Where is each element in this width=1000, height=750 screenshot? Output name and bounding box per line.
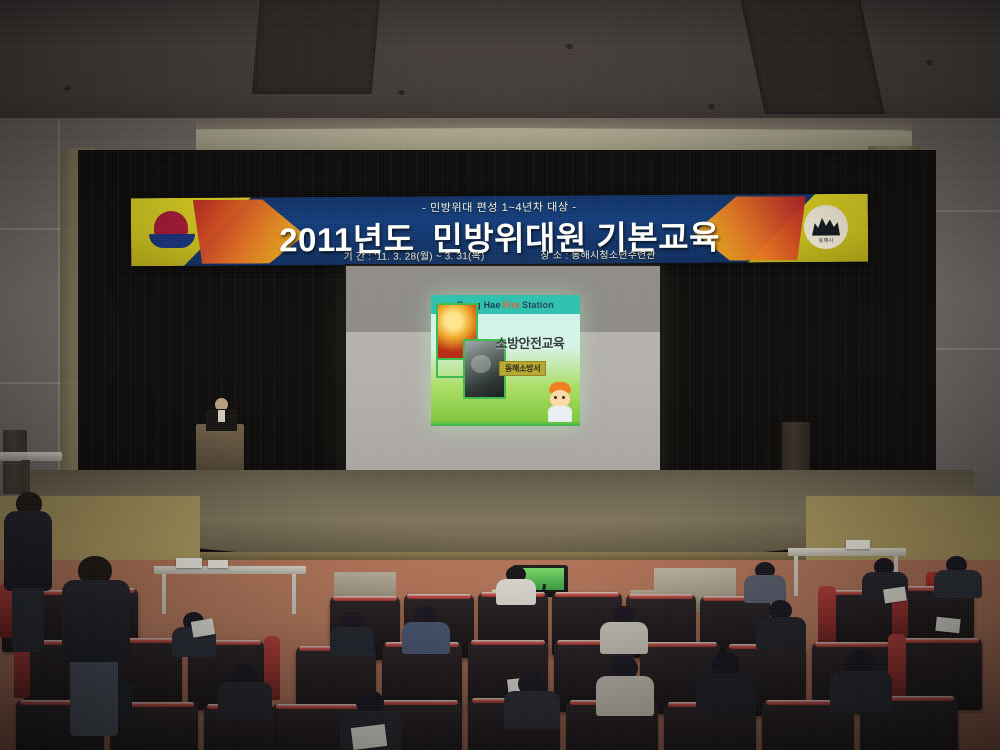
banner-period-label: 기 간 : — [343, 252, 371, 263]
standing-legs — [70, 662, 118, 736]
audience-member — [830, 650, 892, 708]
event-banner: 동해시 - 민방위대 편성 1~4년차 대상 - 2011년도민방위대원 기본교… — [131, 194, 868, 267]
presenter-shirt — [218, 410, 225, 422]
audience-member — [934, 556, 982, 594]
audience-body — [496, 579, 536, 605]
audience-body — [218, 682, 272, 718]
audience-body — [696, 673, 756, 715]
banner-venue-value: 동해시청소년수련관 — [571, 250, 656, 262]
audience-member — [330, 612, 374, 652]
mascot-eye — [554, 396, 557, 399]
paper-on-table — [846, 540, 870, 549]
ceiling-fixture — [926, 60, 933, 65]
audience-body — [934, 570, 982, 598]
slide-header-station: Station — [522, 300, 554, 310]
handout-paper — [351, 724, 387, 750]
slide-header-fire: Fire — [503, 300, 520, 310]
auditorium-scene: 동해시 - 민방위대 편성 1~4년차 대상 - 2011년도민방위대원 기본교… — [0, 0, 1000, 750]
paper-on-table — [208, 560, 228, 568]
folding-table — [788, 548, 906, 556]
mascot-eye — [562, 396, 565, 399]
banner-period: 기 간 : '11. 3. 28(월) ~ 3. 31(목) — [343, 247, 484, 263]
ceiling-fixture — [64, 86, 71, 91]
audience-member — [600, 606, 648, 650]
seat-armrest — [818, 586, 836, 644]
audience-body — [402, 622, 450, 654]
banner-period-value: '11. 3. 28(월) ~ 3. 31(목) — [374, 251, 484, 263]
table-leg — [162, 574, 166, 614]
audience-body — [600, 622, 648, 654]
audience-member — [496, 566, 536, 600]
paper-on-table — [176, 558, 202, 568]
audience-member — [596, 656, 654, 712]
standing-torso — [4, 511, 52, 591]
slide-title: 소방안전교육 — [487, 333, 573, 352]
presenter-at-podium — [205, 398, 237, 430]
audience-body — [830, 671, 892, 713]
standing-attendee — [60, 556, 130, 736]
ceiling-fixture — [566, 44, 573, 49]
audience-body — [596, 676, 654, 716]
soffit-beam — [78, 128, 936, 150]
projection-screen: Dong Hae Fire Station 소방안전교육 동해소방서 — [344, 264, 662, 476]
slide-badge: 동해소방서 — [499, 361, 546, 376]
banner-venue-label: 장 소 : — [540, 251, 568, 262]
ceiling-vent-right — [739, 0, 885, 114]
audience-member — [744, 562, 786, 598]
audience-member — [402, 606, 450, 650]
banner-venue: 장 소 : 동해시청소년수련관 — [540, 246, 655, 262]
audience-member — [696, 652, 756, 710]
mascot-body — [548, 406, 572, 422]
audience-body — [330, 627, 374, 657]
audience-body — [504, 691, 560, 729]
audience-body — [744, 575, 786, 603]
audience-member — [504, 672, 560, 726]
standing-torso — [62, 580, 130, 666]
ceiling-fixture — [398, 90, 405, 95]
standing-attendee — [4, 492, 52, 652]
projected-slide: Dong Hae Fire Station 소방안전교육 동해소방서 — [431, 295, 580, 426]
ceiling-fixture — [708, 104, 715, 109]
slide-frame-accent — [436, 350, 465, 378]
audience-member — [218, 664, 272, 714]
ceiling-vent-left — [252, 0, 381, 94]
audience-body — [756, 617, 806, 649]
audience-member — [756, 600, 806, 646]
side-table-left — [0, 452, 62, 461]
firefighter-mascot-character — [544, 382, 576, 422]
table-leg — [292, 574, 296, 614]
table-leg — [794, 556, 798, 596]
handout-paper — [935, 617, 960, 633]
standing-legs — [12, 588, 44, 652]
